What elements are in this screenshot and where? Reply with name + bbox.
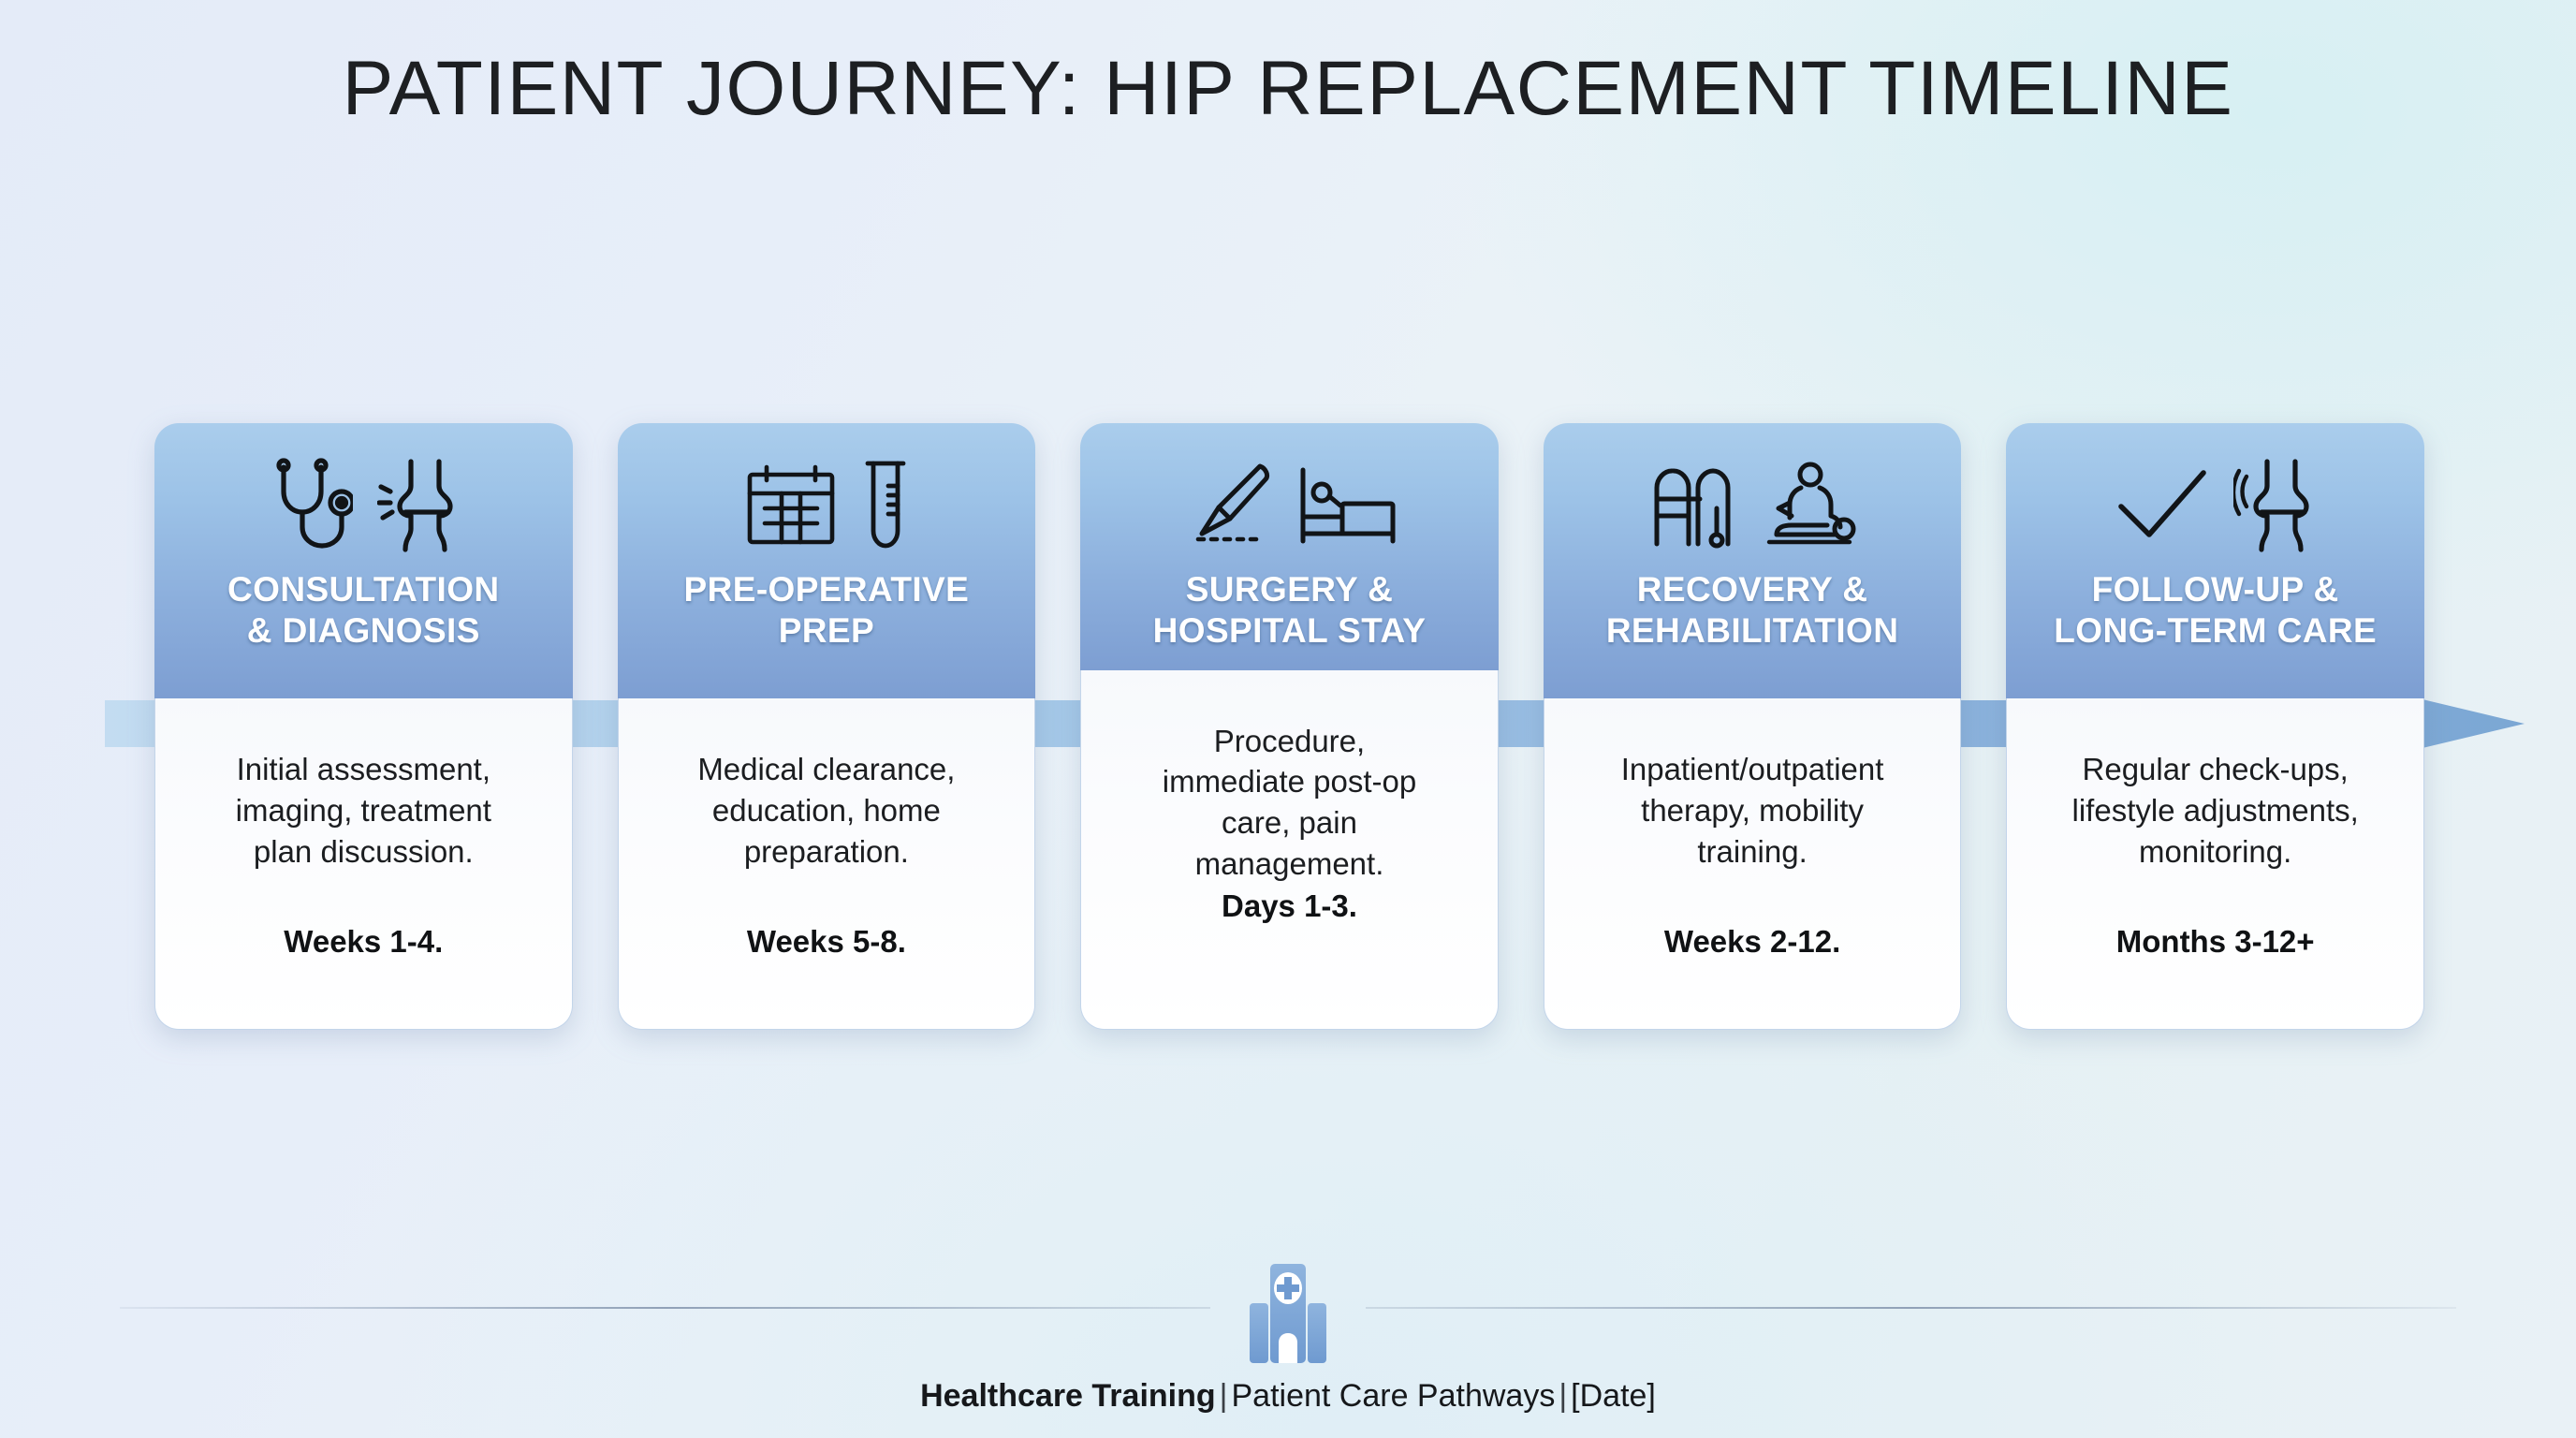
stage-icons — [2115, 423, 2316, 564]
stage-card-surgery-hospital-stay[interactable]: SURGERY & HOSPITAL STAY Procedure, immed… — [1080, 423, 1499, 1030]
stage-description: Regular check-ups, lifestyle adjustments… — [2072, 749, 2359, 873]
physical-therapy-icon — [1758, 462, 1859, 550]
stage-header: FOLLOW-UP & LONG-TERM CARE — [2006, 423, 2424, 698]
stage-title: SURGERY & HOSPITAL STAY — [1146, 564, 1434, 651]
timeline-stages: CONSULTATION & DIAGNOSIS Initial assessm… — [154, 423, 2424, 1030]
stethoscope-icon — [267, 458, 353, 553]
calendar-icon — [744, 463, 838, 548]
walker-icon — [1646, 462, 1734, 550]
stage-title: CONSULTATION & DIAGNOSIS — [220, 564, 506, 651]
stage-card-follow-up-long-term-care[interactable]: FOLLOW-UP & LONG-TERM CARE Regular check… — [2006, 423, 2424, 1030]
stage-title: FOLLOW-UP & LONG-TERM CARE — [2046, 564, 2384, 651]
page-title: PATIENT JOURNEY: HIP REPLACEMENT TIMELIN… — [0, 45, 2576, 133]
footer: Healthcare Training|Patient Care Pathway… — [0, 1195, 2576, 1438]
stage-description: Inpatient/outpatient therapy, mobility t… — [1621, 749, 1884, 873]
footer-organization: Healthcare Training — [920, 1378, 1216, 1414]
stage-timeframe: Weeks 5-8. — [747, 924, 906, 1005]
stage-timeframe: Weeks 1-4. — [284, 924, 443, 1005]
stage-body: Inpatient/outpatient therapy, mobility t… — [1544, 698, 1962, 1030]
stage-timeframe: Weeks 2-12. — [1664, 924, 1840, 1005]
footer-divider-right — [1366, 1307, 2456, 1309]
scalpel-icon — [1181, 461, 1271, 550]
footer-date: [Date] — [1571, 1378, 1656, 1414]
test-tube-icon — [862, 458, 909, 553]
stage-description: Initial assessment, imaging, treatment p… — [236, 749, 491, 873]
stage-icons — [1646, 423, 1859, 564]
footer-category: Patient Care Pathways — [1231, 1378, 1555, 1414]
infographic-canvas: PATIENT JOURNEY: HIP REPLACEMENT TIMELIN… — [0, 0, 2576, 1438]
stage-title: RECOVERY & REHABILITATION — [1599, 564, 1907, 651]
hospital-bed-icon — [1295, 464, 1397, 547]
checkmark-icon — [2115, 465, 2209, 546]
stage-icons — [1181, 423, 1397, 564]
stage-timeframe: Months 3-12+ — [2116, 924, 2315, 1005]
stage-icons — [267, 423, 460, 564]
stage-timeframe: Days 1-3. — [1222, 888, 1357, 1005]
footer-separator-2: | — [1555, 1378, 1571, 1414]
footer-caption: Healthcare Training|Patient Care Pathway… — [0, 1378, 2576, 1415]
stage-body: Regular check-ups, lifestyle adjustments… — [2006, 698, 2424, 1030]
hospital-building-icon — [1248, 1262, 1328, 1365]
stage-body: Medical clearance, education, home prepa… — [618, 698, 1036, 1030]
footer-separator-1: | — [1216, 1378, 1232, 1414]
stage-header: RECOVERY & REHABILITATION — [1544, 423, 1962, 698]
stage-icons — [744, 423, 909, 564]
stage-body: Initial assessment, imaging, treatment p… — [154, 698, 573, 1030]
stage-card-consultation[interactable]: CONSULTATION & DIAGNOSIS Initial assessm… — [154, 423, 573, 1030]
stage-header: SURGERY & HOSPITAL STAY — [1080, 423, 1499, 670]
stage-header: PRE-OPERATIVE PREP — [618, 423, 1036, 698]
joint-pain-icon — [377, 458, 460, 553]
footer-divider-left — [120, 1307, 1210, 1309]
stage-title: PRE-OPERATIVE PREP — [677, 564, 977, 651]
stage-card-recovery-rehabilitation[interactable]: RECOVERY & REHABILITATION Inpatient/outp… — [1544, 423, 1962, 1030]
stage-body: Procedure, immediate post-op care, pain … — [1080, 670, 1499, 1031]
stage-description: Medical clearance, education, home prepa… — [697, 749, 955, 873]
stage-card-pre-operative-prep[interactable]: PRE-OPERATIVE PREP Medical clearance, ed… — [618, 423, 1036, 1030]
stage-header: CONSULTATION & DIAGNOSIS — [154, 423, 573, 698]
stage-description: Procedure, immediate post-op care, pain … — [1163, 721, 1416, 886]
healthy-joint-icon — [2233, 458, 2316, 553]
